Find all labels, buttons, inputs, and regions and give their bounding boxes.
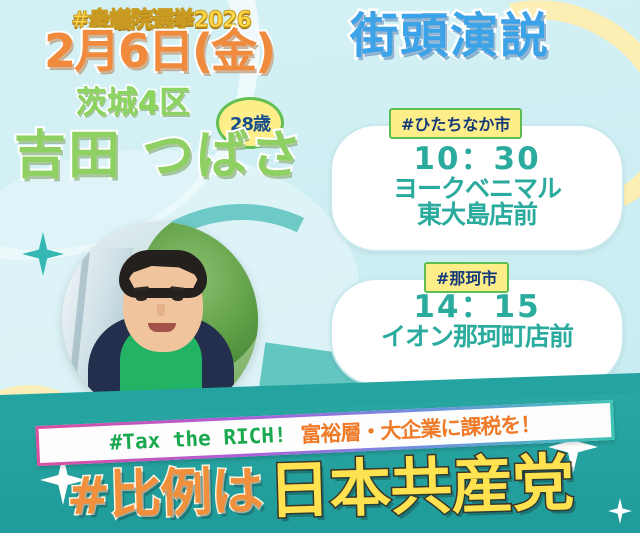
city-tag-hitachinaka: #ひたちなか市	[389, 108, 522, 139]
portrait-hair	[119, 250, 207, 298]
candidate-name: 吉田 つばさ	[4, 130, 314, 182]
schedule-place-line1: ヨークベニマル	[332, 176, 622, 202]
portrait-nose	[157, 304, 165, 316]
tax-banner-japanese: 富裕層・大企業に課税を！	[300, 408, 541, 449]
party-slogan: #比例は 日本共産党	[19, 442, 621, 533]
schedule-card-first: 10：30 ヨークベニマル 東大島店前	[330, 124, 624, 252]
campaign-poster: #衆議院選挙2026 2月6日(金) 茨城4区 28歳 吉田 つばさ 街頭演説 …	[0, 0, 640, 533]
slogan-proportional-text: #比例は	[66, 466, 263, 523]
slogan-party-name: 日本共産党	[267, 452, 574, 522]
event-type-title: 街頭演説	[300, 12, 600, 60]
sparkle-icon	[22, 232, 64, 276]
event-date: 2月6日(金)	[24, 28, 294, 74]
schedule-card-second: 14：15 イオン那珂町店前	[330, 278, 624, 386]
schedule-time: 14：15	[332, 290, 622, 324]
schedule-time: 10：30	[332, 142, 622, 176]
schedule-place-line2: 東大島店前	[332, 202, 622, 228]
district-label: 茨城4区	[28, 88, 238, 119]
schedule-place-line1: イオン那珂町店前	[332, 324, 622, 350]
city-tag-naka: #那珂市	[424, 262, 509, 293]
tax-banner-english: #Tax the RICH!	[109, 423, 287, 455]
